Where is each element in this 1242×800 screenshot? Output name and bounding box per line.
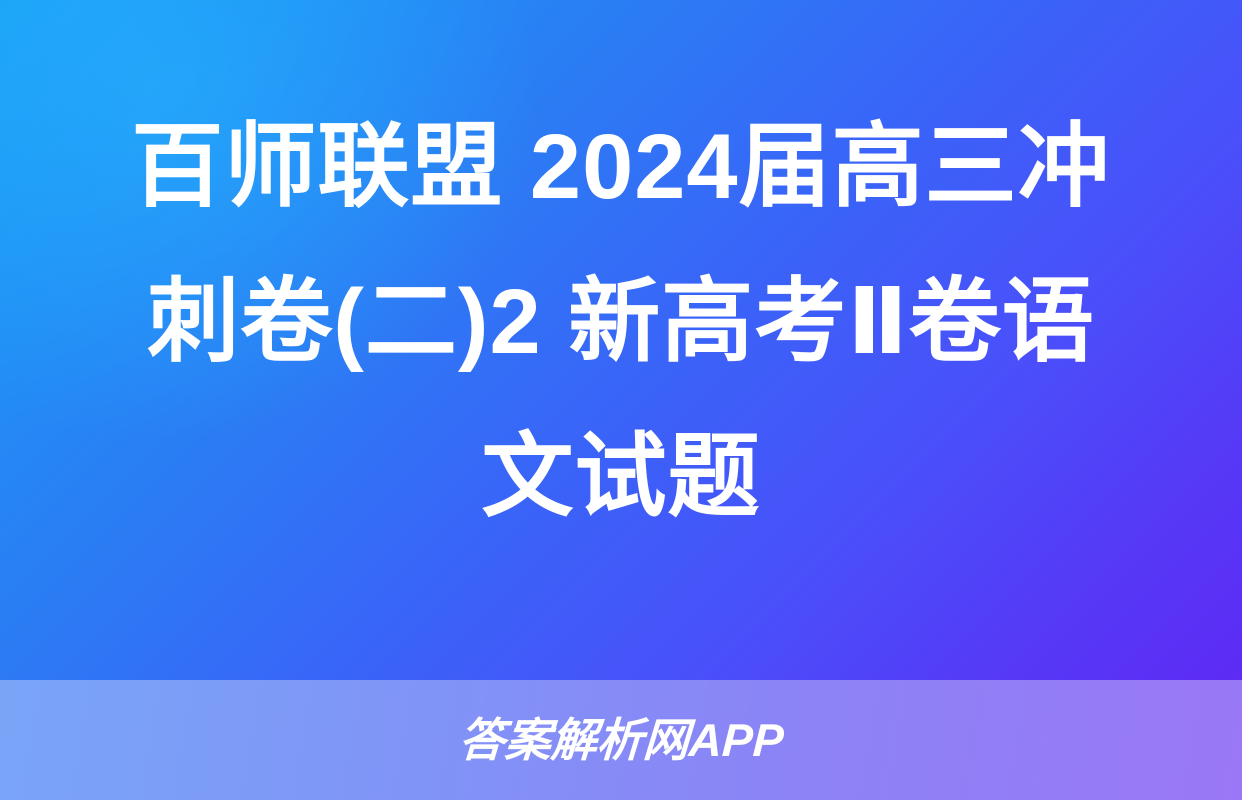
footer-watermark-band: 答案解析网APP <box>0 680 1242 800</box>
page-title-line-1: 百师联盟 2024届高三冲 <box>72 90 1170 245</box>
page-title-line-3: 文试题 <box>72 400 1170 555</box>
page-title-line-2: 刺卷(二)2 新高考Ⅱ卷语 <box>72 245 1170 400</box>
watermark-label: 答案解析网APP <box>457 717 784 763</box>
title-block: 百师联盟 2024届高三冲 刺卷(二)2 新高考Ⅱ卷语 文试题 <box>0 0 1242 680</box>
exam-cover-card: 百师联盟 2024届高三冲 刺卷(二)2 新高考Ⅱ卷语 文试题 答案解析网APP <box>0 0 1242 800</box>
